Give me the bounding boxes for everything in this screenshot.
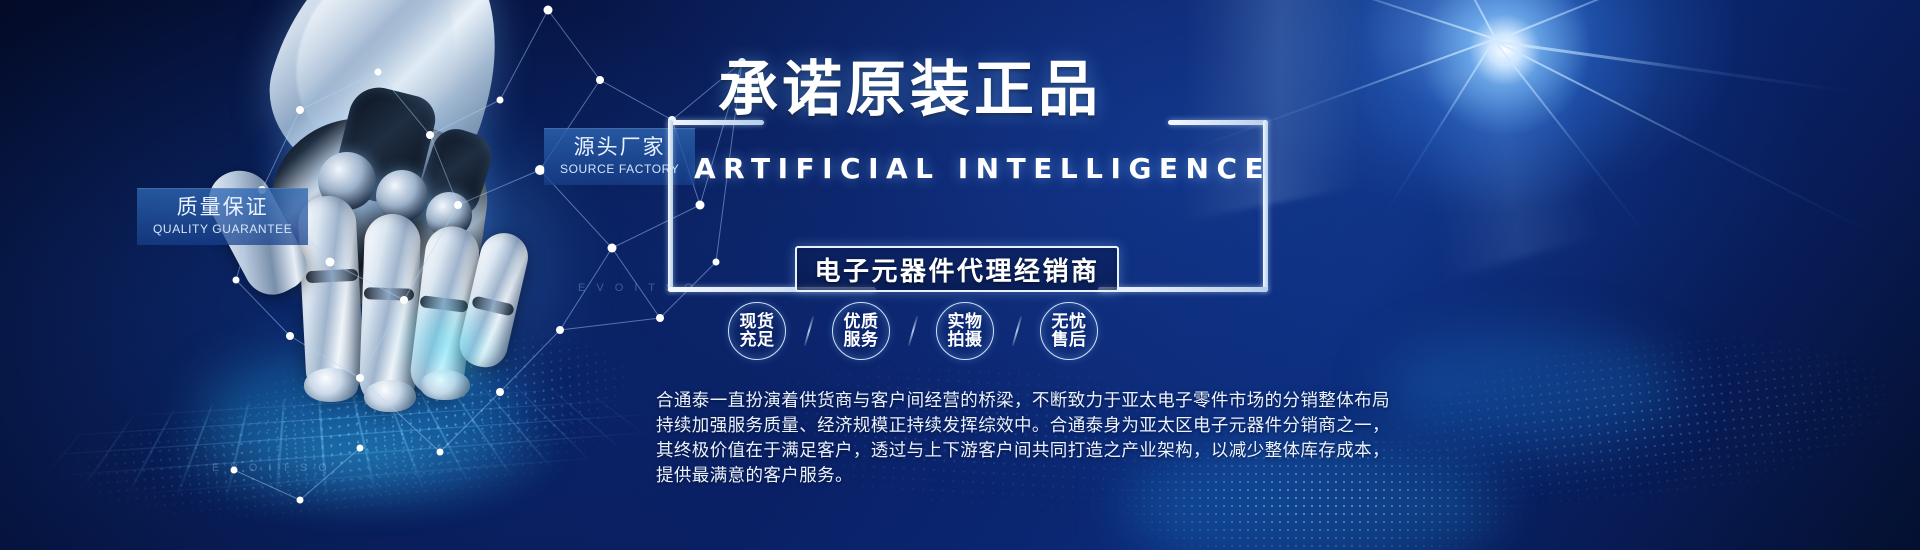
slogan-box: 电子元器件代理经销商 <box>795 246 1119 292</box>
watermark-text: E V O I T S O <box>212 462 331 474</box>
description-line-1: 合通泰一直扮演着供货商与客户间经营的桥梁，不断致力于亚太电子零件市场的分销整体布… <box>656 388 1496 413</box>
hero-content: 承诺原装正品 ARTIFICIAL INTELLIGENCE 电子元器件代理经销… <box>648 0 1920 550</box>
feature-circle-list: 现货 充足 优质 服务 实物 拍摄 无忧 售后 <box>728 302 1098 360</box>
description-paragraph: 合通泰一直扮演着供货商与客户间经营的桥梁，不断致力于亚太电子零件市场的分销整体布… <box>656 388 1496 488</box>
bracket-segment <box>1263 120 1268 292</box>
feature-circle-service-line2: 服务 <box>844 331 879 349</box>
slogan-text: 电子元器件代理经销商 <box>814 251 1099 288</box>
description-line-4: 提供最满意的客户服务。 <box>656 463 1496 488</box>
feature-circle-after-sales-line2: 售后 <box>1052 331 1087 349</box>
bracket-segment <box>1168 120 1268 125</box>
description-line-2: 持续加强服务质量、经济规模正持续发挥综效中。合通泰身为亚太区电子元器件分销商之一… <box>656 413 1496 438</box>
badge-quality-guarantee: 质量保证 QUALITY GUARANTEE <box>137 188 308 245</box>
robot-joint <box>364 287 414 301</box>
feature-circle-after-sales-line1: 无忧 <box>1052 313 1087 331</box>
feature-circle-service: 优质 服务 <box>832 302 890 360</box>
feature-circle-after-sales: 无忧 售后 <box>1040 302 1098 360</box>
divider <box>1012 316 1023 346</box>
page-title: 承诺原装正品 <box>718 60 1238 120</box>
robot-fingertip <box>304 368 358 402</box>
bracket-segment <box>668 120 673 292</box>
feature-circle-service-line1: 优质 <box>844 313 879 331</box>
feature-circle-real-photo-line2: 拍摄 <box>948 331 983 349</box>
divider <box>804 316 815 346</box>
hero-banner: E V O I T S O E V O I T S O <box>0 0 1920 550</box>
description-line-3: 其终极价值在于满足客户，透过与上下游客户间共同打造之产业架构，以减少整体库存成本… <box>656 438 1496 463</box>
feature-circle-stock-line2: 充足 <box>740 331 775 349</box>
bracket-segment <box>1098 287 1268 292</box>
subtitle-artificial-intelligence: ARTIFICIAL INTELLIGENCE <box>694 152 1254 185</box>
badge-quality-guarantee-cn: 质量保证 <box>153 196 292 220</box>
feature-circle-real-photo: 实物 拍摄 <box>936 302 994 360</box>
feature-circle-stock: 现货 充足 <box>728 302 786 360</box>
feature-circle-stock-line1: 现货 <box>740 313 775 331</box>
badge-quality-guarantee-en: QUALITY GUARANTEE <box>153 222 292 236</box>
divider <box>908 316 919 346</box>
feature-circle-real-photo-line1: 实物 <box>948 313 983 331</box>
energy-spark <box>388 300 508 390</box>
